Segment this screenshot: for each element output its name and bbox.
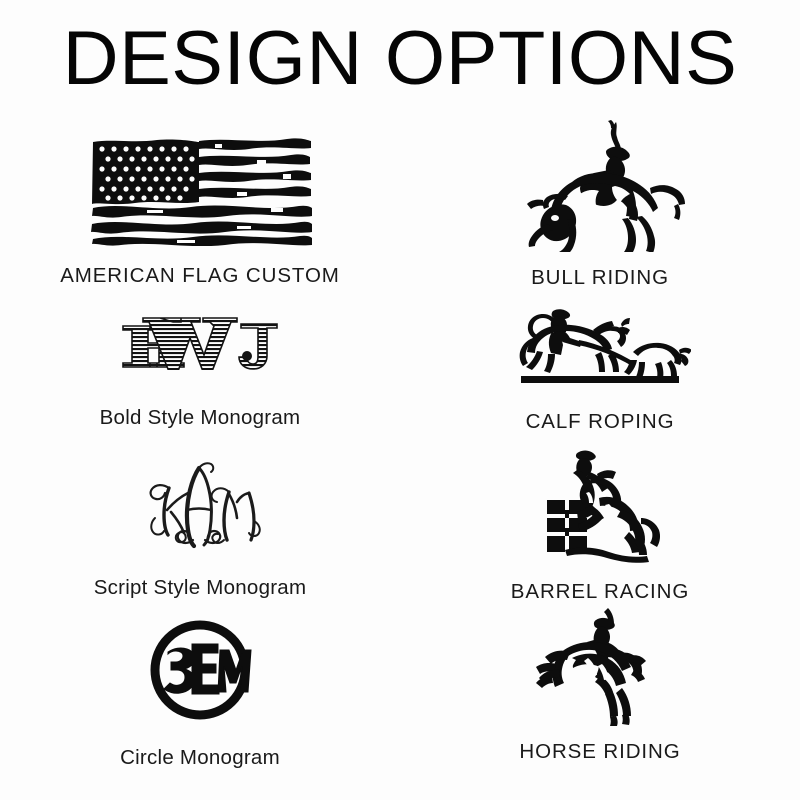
option-label: Circle Monogram	[120, 746, 280, 770]
option-label: Script Style Monogram	[94, 576, 307, 600]
design-options-page: DESIGN OPTIONS	[0, 0, 800, 800]
calf-roping-icon	[400, 288, 800, 386]
option-label: Bold Style Monogram	[100, 406, 301, 430]
option-script-style-monogram[interactable]: Script Style Monogram	[0, 448, 400, 608]
circle-monogram-icon	[0, 608, 400, 722]
option-barrel-racing[interactable]: BARREL RACING	[400, 448, 800, 608]
distressed-american-flag-icon	[0, 118, 400, 248]
design-options-grid: AMERICAN FLAG CUSTOM	[0, 118, 800, 800]
bold-monogram-icon	[0, 288, 400, 376]
option-label: CALF ROPING	[526, 410, 675, 434]
option-american-flag-custom[interactable]: AMERICAN FLAG CUSTOM	[0, 118, 400, 288]
option-label: AMERICAN FLAG CUSTOM	[60, 264, 340, 288]
option-label: BARREL RACING	[511, 580, 689, 604]
horse-riding-icon	[400, 608, 800, 726]
option-horse-riding[interactable]: HORSE RIDING	[400, 608, 800, 800]
bull-riding-icon	[400, 118, 800, 252]
option-bull-riding[interactable]: BULL RIDING	[400, 118, 800, 288]
option-bold-style-monogram[interactable]: Bold Style Monogram	[0, 288, 400, 448]
script-monogram-icon	[0, 448, 400, 552]
option-circle-monogram[interactable]: Circle Monogram	[0, 608, 400, 800]
option-calf-roping[interactable]: CALF ROPING	[400, 288, 800, 448]
page-title: DESIGN OPTIONS	[0, 18, 800, 100]
barrel-racing-icon	[400, 448, 800, 566]
option-label: HORSE RIDING	[519, 740, 680, 764]
option-label: BULL RIDING	[531, 266, 669, 290]
